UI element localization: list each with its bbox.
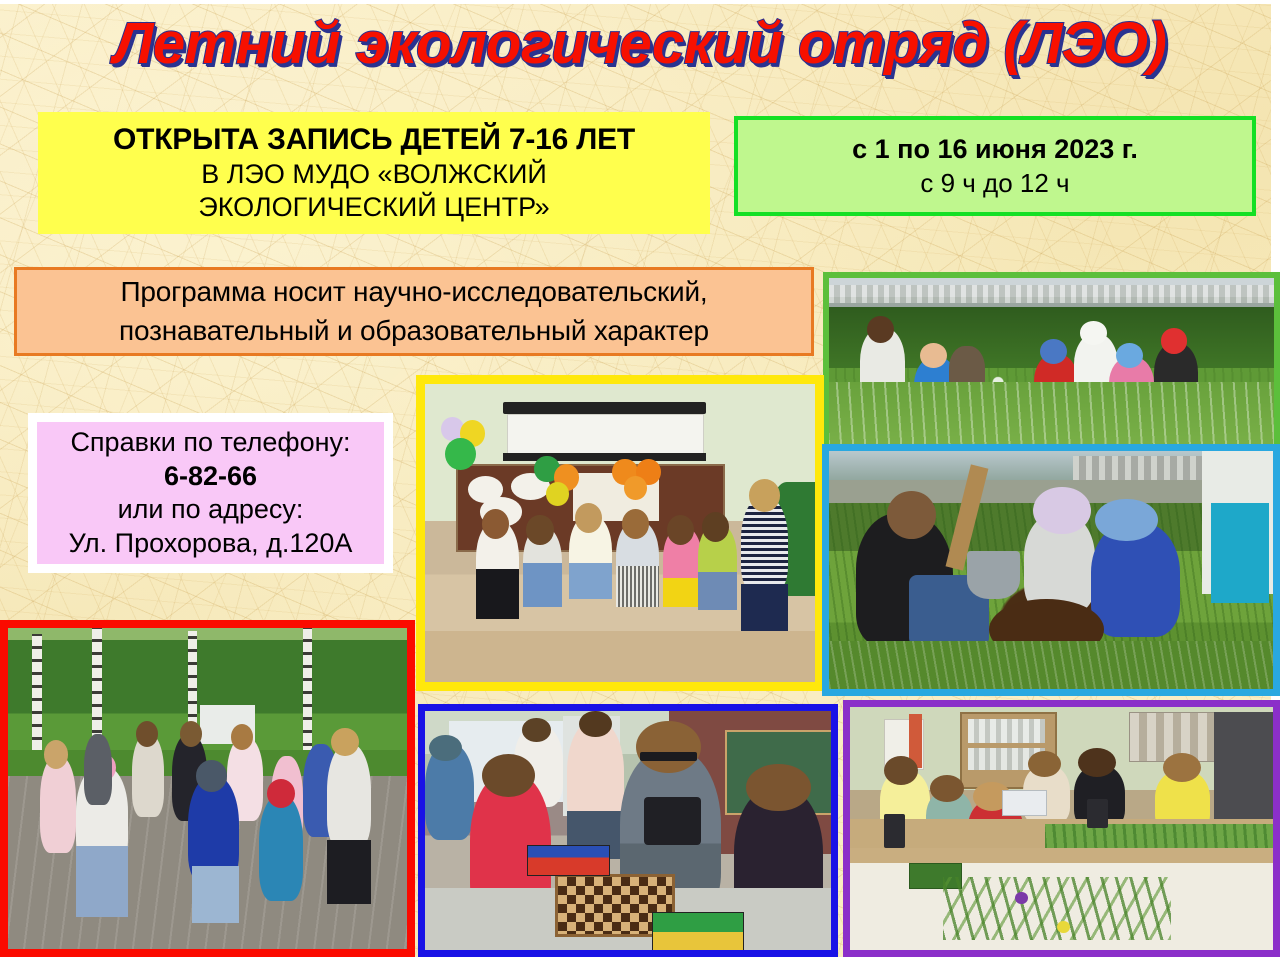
birch-trunk [303,628,312,756]
program-description-box: Программа носит научно-исследовательский… [14,267,814,356]
child-striped-shorts [616,566,659,608]
child-head [482,509,509,539]
child-shorts [192,866,240,924]
program-line-2: познавательный и образовательный характе… [25,312,803,350]
photo-board-games: Дети играют в шахматы и настольные игры [418,704,838,957]
microscope [884,814,905,848]
contact-address: Ул. Прохорова, д.120А [43,527,378,560]
bench-edge [850,848,1273,863]
child-head [180,721,202,747]
child-trousers [327,840,371,904]
poster-title: Летний экологический отряд (ЛЭО) [0,14,1280,75]
photo-outdoor-circle-game-scene: Игра в кругу на улице у берёз [8,628,407,949]
balloon [445,438,476,471]
child-skirt [476,569,519,620]
child-head [667,515,694,545]
plant-cuttings [943,877,1171,940]
child-figure [40,756,76,852]
enrollment-box: ОТКРЫТА ЗАПИСЬ ДЕТЕЙ 7-16 ЛЕТ В ЛЭО МУДО… [38,112,710,234]
top-white-edge [0,0,1280,4]
purple-flower [1015,892,1028,904]
child-figure [84,734,112,805]
teen-head [887,491,936,539]
poster-root: Летний экологический отряд (ЛЭО) ОТКРЫТА… [0,0,1280,957]
program-line-1: Программа носит научно-исследовательский… [25,273,803,311]
photo-classroom-celebration-scene: Дети с поднятыми руками в классе с шарам… [425,384,815,682]
photo-biology-lab: Занятие в лаборатории с растениями и мик… [843,700,1280,957]
child-yellow-skirt [663,578,702,608]
shovel-blade [967,551,1020,599]
photo-classroom-celebration: Дети с поднятыми руками в классе с шарам… [416,375,824,691]
projector-screen [507,414,704,458]
photo-dandelion-meadow-scene: Дети в поле одуванчиков [829,278,1274,458]
contact-line-3: или по адресу: [43,493,378,526]
projector-screen-rod [503,402,706,414]
child-sunhat [1033,487,1091,535]
adult-head [749,479,780,512]
photo-outdoor-circle-game: Игра в кругу на улице у берёз [0,620,415,957]
adult-trousers [741,584,788,632]
contact-line-1: Справки по телефону: [43,426,378,459]
child-cap [267,779,295,808]
child-head [136,721,158,747]
child-head [702,512,729,542]
puzzle-box [527,845,610,876]
dates-line-2: с 9 ч до 12 ч [746,167,1244,200]
child-head [867,316,894,343]
fence-slats [829,285,1274,303]
child-head [522,718,550,742]
birch-trunk [32,634,42,762]
child-head [930,775,964,802]
contact-phone-number: 6-82-66 [43,459,378,493]
child-head [636,721,701,774]
laptop [1002,790,1046,816]
child-head [884,756,918,785]
child-cap [1080,321,1107,344]
equipment-rack [1214,712,1273,819]
photo-biology-lab-scene: Занятие в лаборатории с растениями и мик… [850,707,1273,950]
enrollment-line-3: ЭКОЛОГИЧЕСКИЙ ЦЕНТР» [48,191,700,224]
eyeglasses [640,752,697,762]
dates-box: с 1 по 16 июня 2023 г. с 9 ч до 12 ч [734,116,1256,216]
child-denim-skirt [76,846,128,917]
child-shorts [698,572,737,611]
child-figure [327,744,371,850]
enrollment-line-2: В ЛЭО МУДО «ВОЛЖСКИЙ [48,158,700,191]
game-box [652,912,743,950]
photo-dandelion-meadow: Дети в поле одуванчиков [823,272,1280,464]
enrollment-line-1: ОТКРЫТА ЗАПИСЬ ДЕТЕЙ 7-16 ЛЕТ [48,122,700,157]
child-head [44,740,68,769]
yellow-flower [1057,921,1070,933]
child-cap [429,735,461,761]
child-cap [1161,328,1188,353]
grass-foreground [829,641,1273,689]
child-head [482,754,535,797]
teen-head [579,711,611,737]
glassware-shelf [968,719,1044,743]
child-head [622,509,649,539]
child-shorts [569,563,612,599]
child-figure [259,795,303,901]
child-head [920,343,947,368]
microscope [1087,799,1108,828]
classroom-floor [425,631,815,682]
projector-screen-bar [503,453,706,462]
photo-tree-planting-scene: Посадка растений с лопатой [829,451,1273,689]
photo-board-games-scene: Дети играют в шахматы и настольные игры [425,711,831,950]
child-overalls [523,563,562,608]
child-cap [1095,499,1157,542]
dates-line-1: с 1 по 16 июня 2023 г. [746,133,1244,167]
bystander-leggings [1211,503,1269,603]
child-cap [196,760,228,792]
photo-tree-planting: Посадка растений с лопатой [822,444,1280,696]
tshirt-graphic [644,797,701,845]
child-cap [1116,343,1143,368]
contact-info-box: Справки по телефону: 6-82-66 или по адре… [28,413,393,573]
child-head [746,764,811,812]
child-head [526,515,553,545]
